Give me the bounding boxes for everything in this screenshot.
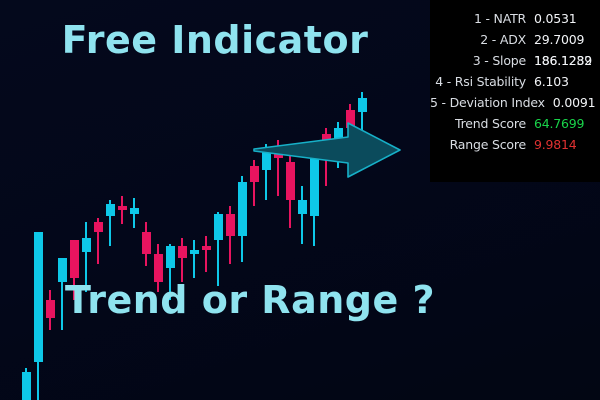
- candlestick: [22, 368, 31, 400]
- candle-body: [118, 206, 127, 210]
- stat-label: 5 - Deviation Index: [430, 95, 545, 110]
- candle-body: [130, 208, 139, 214]
- candlestick: [226, 206, 235, 264]
- candle-body: [166, 246, 175, 268]
- stat-row: 5 - Deviation Index0.0091: [430, 92, 600, 113]
- candlestick: [46, 290, 55, 330]
- candle-body: [298, 200, 307, 214]
- candle-body: [34, 232, 43, 362]
- candle-wick: [193, 240, 195, 278]
- indicator-stats-panel: 1 - NATR0.05312 - ADX29.70093 - Slope186…: [430, 0, 600, 182]
- candlestick: [118, 196, 127, 224]
- candlestick: [214, 212, 223, 286]
- candle-wick: [181, 238, 183, 282]
- screenshot-stage: Free Indicator Trend or Range ? 1 - NATR…: [0, 0, 600, 400]
- stat-row: 4 - Rsi Stability6.103: [430, 71, 600, 92]
- candle-body: [226, 214, 235, 236]
- candlestick: [94, 218, 103, 264]
- stat-row: 1 - NATR0.0531: [430, 8, 600, 29]
- candlestick: [106, 200, 115, 246]
- stat-value: 0.0091: [545, 95, 600, 110]
- stat-label: Range Score: [430, 137, 526, 152]
- stat-label: 2 - ADX: [430, 32, 526, 47]
- candle-body: [190, 250, 199, 254]
- headline-free-indicator: Free Indicator: [0, 18, 430, 62]
- candlestick: [202, 236, 211, 272]
- arrow-shape: [254, 123, 400, 177]
- candle-body: [70, 240, 79, 278]
- stat-value: 0.0531: [526, 11, 600, 26]
- stat-row: 3 - Slope186.1289186.1232: [430, 50, 600, 71]
- stat-label: 1 - NATR: [430, 11, 526, 26]
- headline-trend-or-range: Trend or Range ?: [60, 278, 440, 322]
- candle-body: [94, 222, 103, 232]
- stat-label: 3 - Slope: [430, 53, 526, 68]
- candlestick: [130, 198, 139, 228]
- stat-value: 9.9814: [526, 137, 600, 152]
- candle-body: [178, 246, 187, 258]
- stat-row: 2 - ADX29.7009: [430, 29, 600, 50]
- candlestick: [34, 232, 43, 400]
- candlestick: [178, 238, 187, 282]
- stat-value: 64.7699: [526, 116, 600, 131]
- candle-body: [214, 214, 223, 240]
- stat-value: 186.1289186.1232: [526, 53, 600, 68]
- candlestick: [238, 176, 247, 262]
- candle-body: [46, 300, 55, 318]
- stat-label: Trend Score: [430, 116, 526, 131]
- candle-body: [106, 204, 115, 216]
- stat-value: 29.7009: [526, 32, 600, 47]
- candle-body: [238, 182, 247, 236]
- candle-wick: [205, 236, 207, 272]
- candle-body: [202, 246, 211, 250]
- right-arrow-icon: [248, 105, 408, 195]
- candlestick: [142, 222, 151, 266]
- candlestick: [190, 240, 199, 278]
- candle-body: [22, 372, 31, 400]
- candle-body: [142, 232, 151, 254]
- stat-label: 4 - Rsi Stability: [430, 74, 526, 89]
- stat-value-overlay: 186.1232: [534, 53, 592, 68]
- stat-row: Trend Score64.7699: [430, 113, 600, 134]
- candle-wick: [121, 196, 123, 224]
- stat-value: 6.103: [526, 74, 600, 89]
- stat-row: Range Score9.9814: [430, 134, 600, 155]
- candle-body: [82, 238, 91, 252]
